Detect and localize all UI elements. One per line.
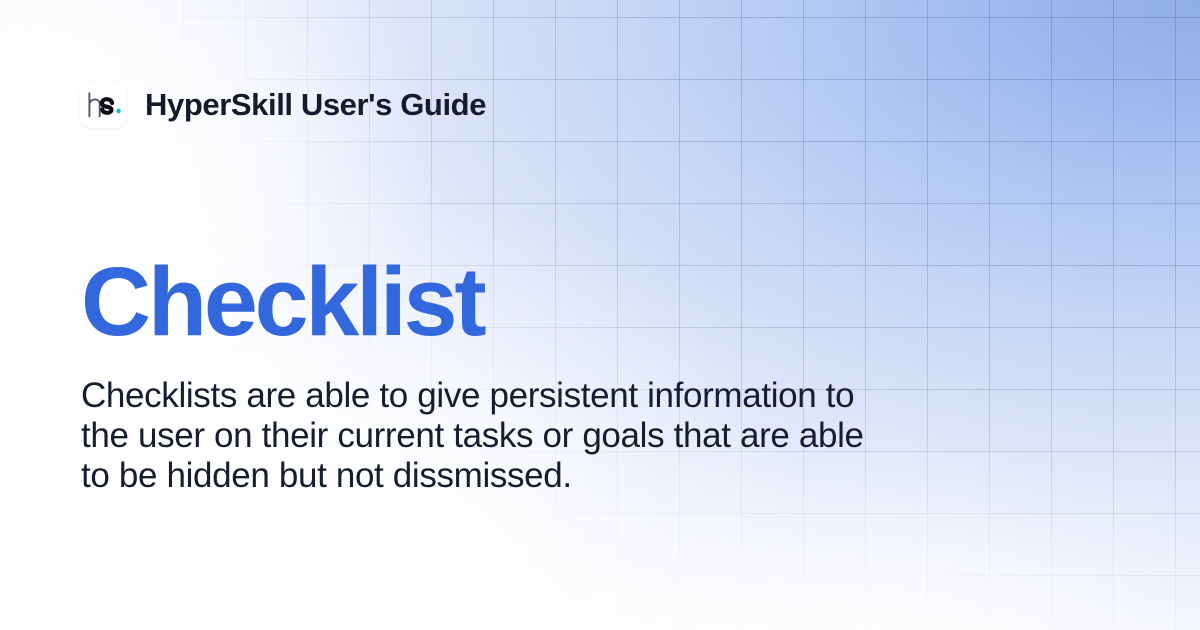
hs-logo-icon: [80, 81, 127, 128]
page-description: Checklists are able to give persistent i…: [81, 376, 871, 496]
hero-block: Checklist Checklists are able to give pe…: [81, 253, 941, 496]
card-content: HyperSkill User's Guide Checklist Checkl…: [0, 0, 1200, 630]
brand-title: HyperSkill User's Guide: [145, 89, 486, 120]
share-card-canvas: HyperSkill User's Guide Checklist Checkl…: [0, 0, 1200, 630]
page-title: Checklist: [81, 253, 941, 350]
brand-header: HyperSkill User's Guide: [80, 81, 486, 128]
